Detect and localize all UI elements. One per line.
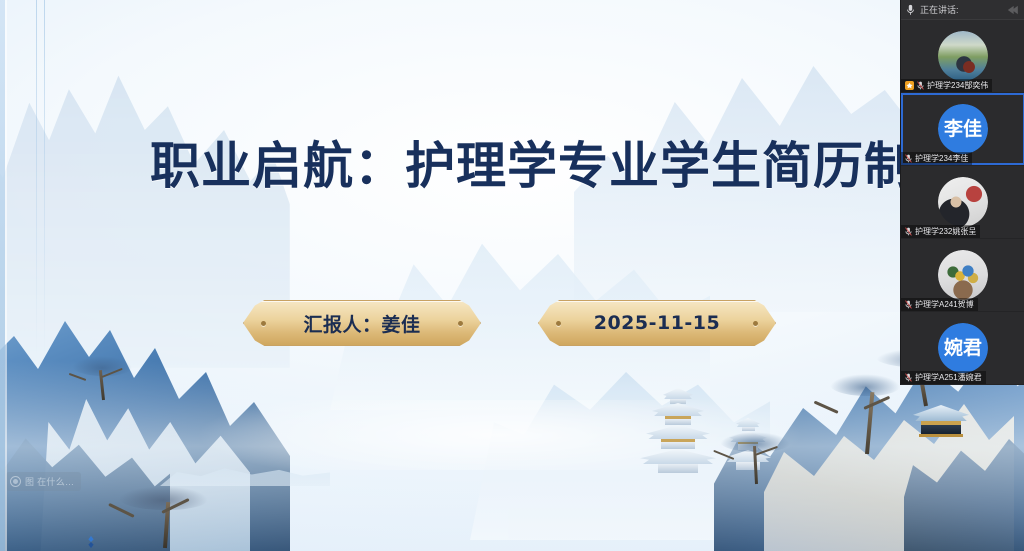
avatar [938,250,988,300]
video-tile[interactable]: 李佳护理学234李佳 [901,93,1024,166]
avatar-initials: 婉君 [938,323,988,373]
video-tile[interactable]: 护理学A241贺博 [901,239,1024,312]
participant-name: 护理学A241贺博 [915,299,974,310]
video-tile[interactable]: 护理学232姚张呈 [901,166,1024,239]
avatar-initials: 李佳 [938,104,988,154]
date-plaque-label: 2025-11-15 [594,312,721,334]
avatar-photo [938,250,988,300]
microphone-muted-icon [905,373,912,382]
participant-name: 护理学234郜奕伟 [927,80,988,91]
speaking-label: 正在讲话: [920,3,959,16]
participant-name: 护理学234李佳 [915,153,968,164]
participant-label: 护理学232姚张呈 [901,225,980,238]
video-tile-list[interactable]: 护理学234郜奕伟李佳护理学234李佳护理学232姚张呈护理学A241贺博婉君护… [901,20,1024,385]
microphone-muted-icon [917,81,924,90]
plaque-rivet-right [753,321,758,326]
screen-share-meeting-view: 职业启航：护理学专业学生简历制作 汇报人：姜佳 2025-11-15 图 在什么… [0,0,1024,551]
microphone-icon [906,4,915,16]
video-participants-panel[interactable]: 正在讲话: 护理学234郜奕伟李佳护理学234李佳护理学232姚张呈护理学A24… [900,0,1024,385]
video-panel-header: 正在讲话: [901,0,1024,20]
plaque-rivet-right [458,321,463,326]
pagoda-main [640,388,716,473]
plaque-rivet-left [261,321,266,326]
participant-label: 护理学A251潘婉君 [901,371,986,384]
pine-tree-left-low [118,486,208,548]
app-mini-logo-icon [84,535,98,549]
avatar-photo [938,31,988,81]
slide-guide-line-left [36,0,37,360]
pagoda-on-cliff [913,405,969,437]
slide-watermark: 图 在什么… [6,472,81,491]
pine-tree-center [720,432,790,484]
microphone-muted-icon [905,300,912,309]
slide-guide-line-right [44,0,45,360]
watermark-circle-icon [10,476,21,487]
participant-label: 护理学234郜奕伟 [901,79,992,92]
video-tile[interactable]: 婉君护理学A251潘婉君 [901,312,1024,385]
avatar: 李佳 [938,104,988,154]
pine-tree-left [72,356,132,400]
avatar [938,177,988,227]
microphone-muted-icon [905,154,912,163]
presentation-slide[interactable]: 职业启航：护理学专业学生简历制作 汇报人：姜佳 2025-11-15 图 在什么… [0,0,1024,551]
participant-name: 护理学232姚张呈 [915,226,976,237]
host-badge-icon [905,81,914,90]
video-tile[interactable]: 护理学234郜奕伟 [901,20,1024,93]
collapse-arrow-icon[interactable] [1005,5,1019,15]
avatar-photo [938,177,988,227]
watermark-label: 图 在什么… [25,475,74,488]
microphone-muted-icon [905,227,912,236]
participant-label: 护理学A241贺博 [901,298,978,311]
participant-label: 护理学234李佳 [901,152,972,165]
avatar: 婉君 [938,323,988,373]
plaque-rivet-left [556,321,561,326]
presenter-plaque: 汇报人：姜佳 [243,300,481,346]
avatar [938,31,988,81]
date-plaque: 2025-11-15 [538,300,776,346]
window-left-edge-inner [5,0,7,551]
presenter-plaque-label: 汇报人：姜佳 [303,310,420,337]
slide-title: 职业启航：护理学专业学生简历制作 [150,126,966,198]
participant-name: 护理学A251潘婉君 [915,372,982,383]
